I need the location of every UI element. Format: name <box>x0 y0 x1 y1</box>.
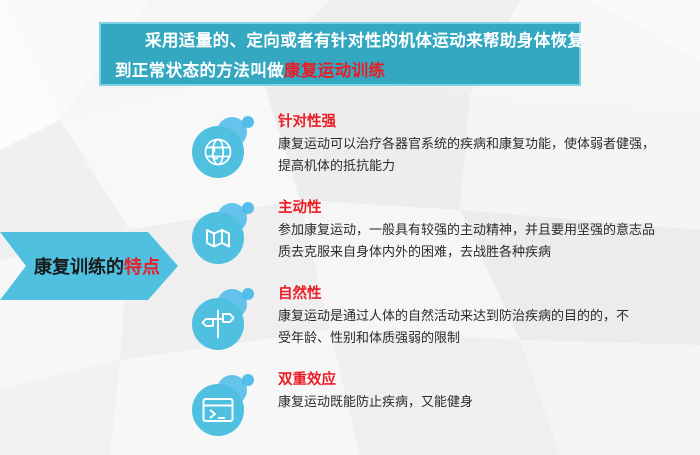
feature-body-line: 康复运动是通过人体的自然活动来达到防治疾病的目的的，不 <box>278 306 692 328</box>
feature-title: 针对性强 <box>278 112 692 132</box>
feature-title: 主动性 <box>278 198 692 218</box>
feature-body-line: 质去克服来自身体内外的困难，去战胜各种疾病 <box>278 242 692 264</box>
left-tag-highlight: 特点 <box>124 253 160 279</box>
feature-body: 康复运动是通过人体的自然活动来达到防治疾病的目的的，不 受年龄、性别和体质强弱的… <box>278 306 692 350</box>
feature-title: 自然性 <box>278 284 692 304</box>
left-arrow-tag-label: 康复训练的特点 <box>0 232 178 300</box>
banner-line-2: 到正常状态的方法叫做康复运动训练 <box>111 56 569 86</box>
banner-line-2-plain: 到正常状态的方法叫做 <box>115 61 284 80</box>
feature-body-line: 受年龄、性别和体质强弱的限制 <box>278 328 692 350</box>
feature-row: 针对性强 康复运动可以治疗各器官系统的疾病和康复功能，使体弱者健强， 提高机体的… <box>192 112 692 198</box>
feature-text-block: 自然性 康复运动是通过人体的自然活动来达到防治疾病的目的的，不 受年龄、性别和体… <box>278 284 692 350</box>
banner-line-2-highlight: 康复运动训练 <box>284 61 385 80</box>
left-tag-plain: 康复训练的 <box>34 253 124 279</box>
feature-title: 双重效应 <box>278 370 692 390</box>
header-banner: 采用适量的、定向或者有针对性的机体运动来帮助身体恢复 到正常状态的方法叫做康复运… <box>99 22 581 86</box>
feature-body-line: 康复运动可以治疗各器官系统的疾病和康复功能，使体弱者健强， <box>278 134 692 156</box>
terminal-icon <box>192 370 272 446</box>
feature-body: 参加康复运动，一般具有较强的主动精神，并且要用坚强的意志品 质去克服来自身体内外… <box>278 220 692 264</box>
map-icon <box>192 198 272 274</box>
feature-body: 康复运动既能防止疾病，又能健身 <box>278 392 692 414</box>
feature-body-line: 参加康复运动，一般具有较强的主动精神，并且要用坚强的意志品 <box>278 220 692 242</box>
feature-body-line: 康复运动既能防止疾病，又能健身 <box>278 392 692 414</box>
feature-text-block: 主动性 参加康复运动，一般具有较强的主动精神，并且要用坚强的意志品 质去克服来自… <box>278 198 692 264</box>
feature-text-block: 双重效应 康复运动既能防止疾病，又能健身 <box>278 370 692 414</box>
globe-icon <box>192 112 272 188</box>
feature-text-block: 针对性强 康复运动可以治疗各器官系统的疾病和康复功能，使体弱者健强， 提高机体的… <box>278 112 692 178</box>
feature-body: 康复运动可以治疗各器官系统的疾病和康复功能，使体弱者健强， 提高机体的抵抗能力 <box>278 134 692 178</box>
feature-row: 双重效应 康复运动既能防止疾病，又能健身 <box>192 370 692 455</box>
banner-line-1: 采用适量的、定向或者有针对性的机体运动来帮助身体恢复 <box>111 26 569 56</box>
slide-canvas: 采用适量的、定向或者有针对性的机体运动来帮助身体恢复 到正常状态的方法叫做康复运… <box>0 0 700 455</box>
feature-body-line: 提高机体的抵抗能力 <box>278 156 692 178</box>
feature-row: 主动性 参加康复运动，一般具有较强的主动精神，并且要用坚强的意志品 质去克服来自… <box>192 198 692 284</box>
left-arrow-tag: 康复训练的特点 <box>0 232 178 300</box>
signpost-icon <box>192 284 272 360</box>
feature-row: 自然性 康复运动是通过人体的自然活动来达到防治疾病的目的的，不 受年龄、性别和体… <box>192 284 692 370</box>
